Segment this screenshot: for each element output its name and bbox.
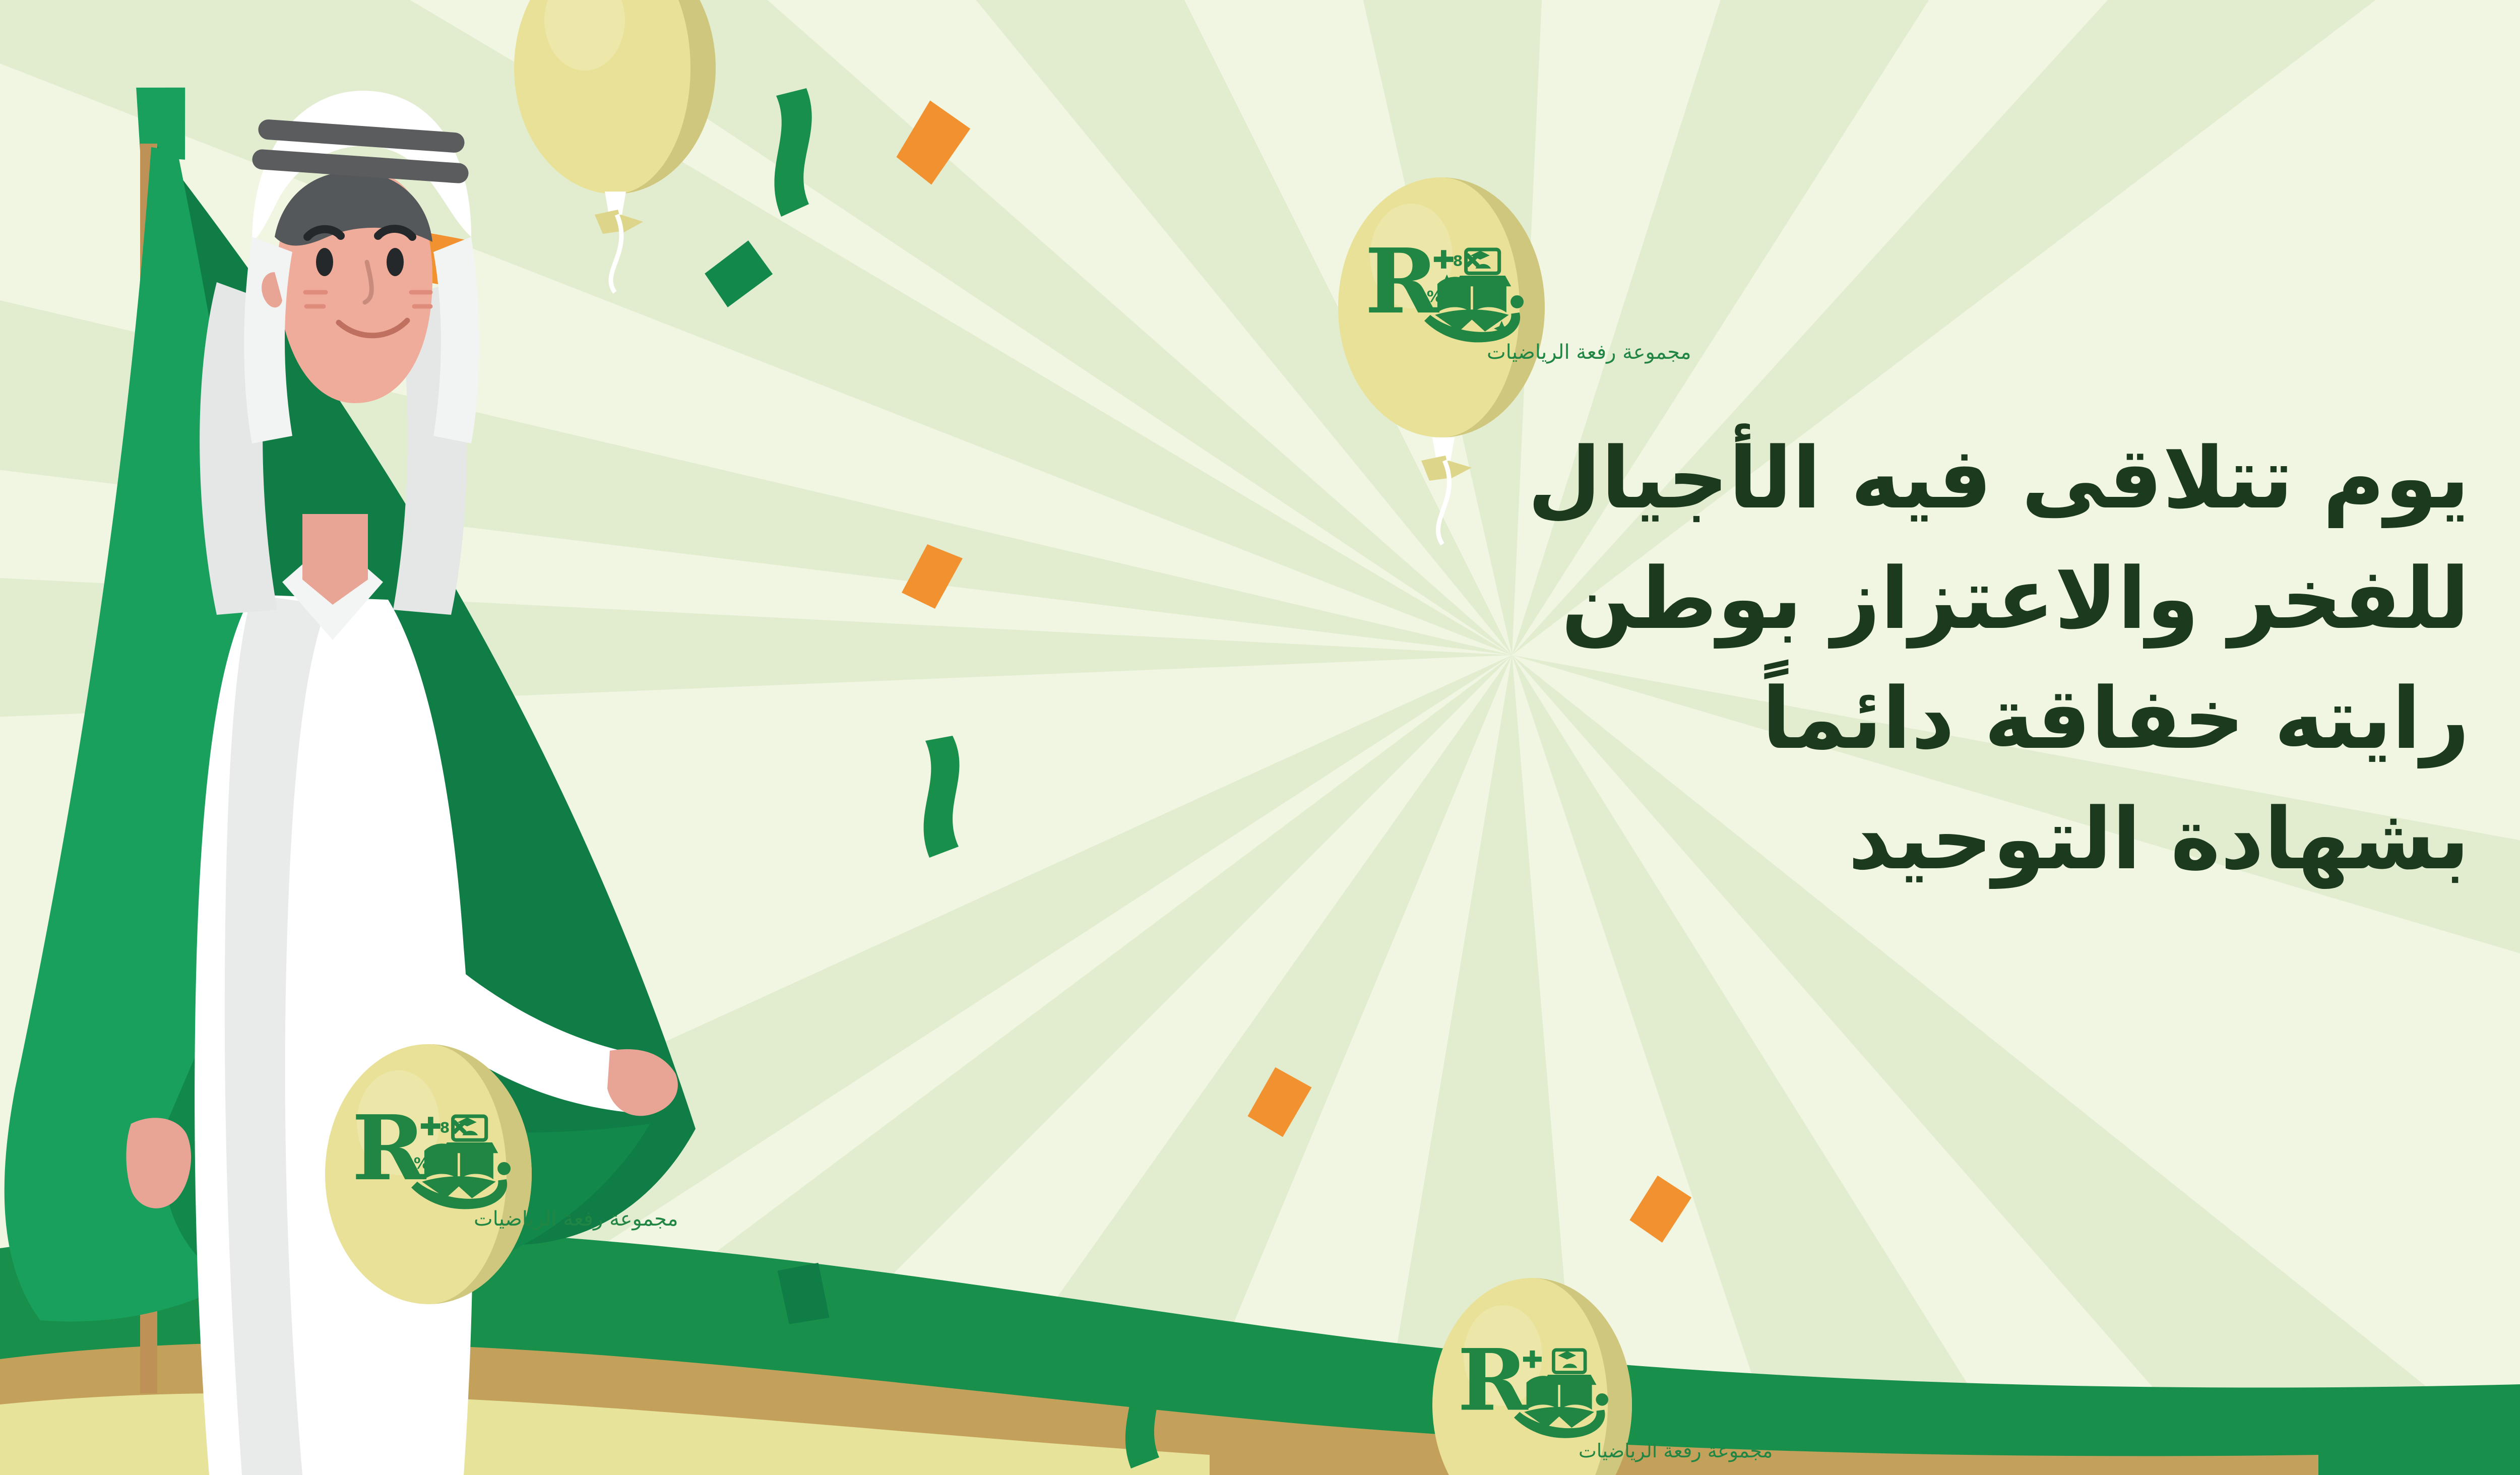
logo-org-name: مجموعة رفعة الرياضيات	[1487, 341, 1691, 364]
balloon-icon: R مجموعة رفعة الرياضيات	[1431, 1275, 1643, 1475]
svg-text:8: 8	[440, 1120, 450, 1136]
headline-line-2: للفخر والاعتزاز بوطن	[958, 539, 2470, 659]
headline-text: يوم تتلاقى فيه الأجيال للفخر والاعتزاز ب…	[958, 418, 2470, 899]
headline-line-3: رايته خفاقة دائماً	[958, 659, 2470, 779]
balloon-icon: R 8 % مجموعة رفعة الرياضيات	[323, 1038, 544, 1411]
logo-org-name: مجموعة رفعة الرياضيات	[1579, 1440, 1773, 1462]
balloon-icon	[514, 0, 726, 292]
emblem-medallion-panel	[2318, 0, 2520, 1475]
logo-org-name: مجموعة رفعة الرياضيات	[474, 1207, 678, 1231]
saudi-flag-day-banner: R 8 %	[0, 0, 2520, 1475]
headline-line-1: يوم تتلاقى فيه الأجيال	[958, 418, 2470, 539]
svg-text:8: 8	[1453, 253, 1463, 270]
headline-line-4: بشهادة التوحيد	[958, 779, 2470, 900]
